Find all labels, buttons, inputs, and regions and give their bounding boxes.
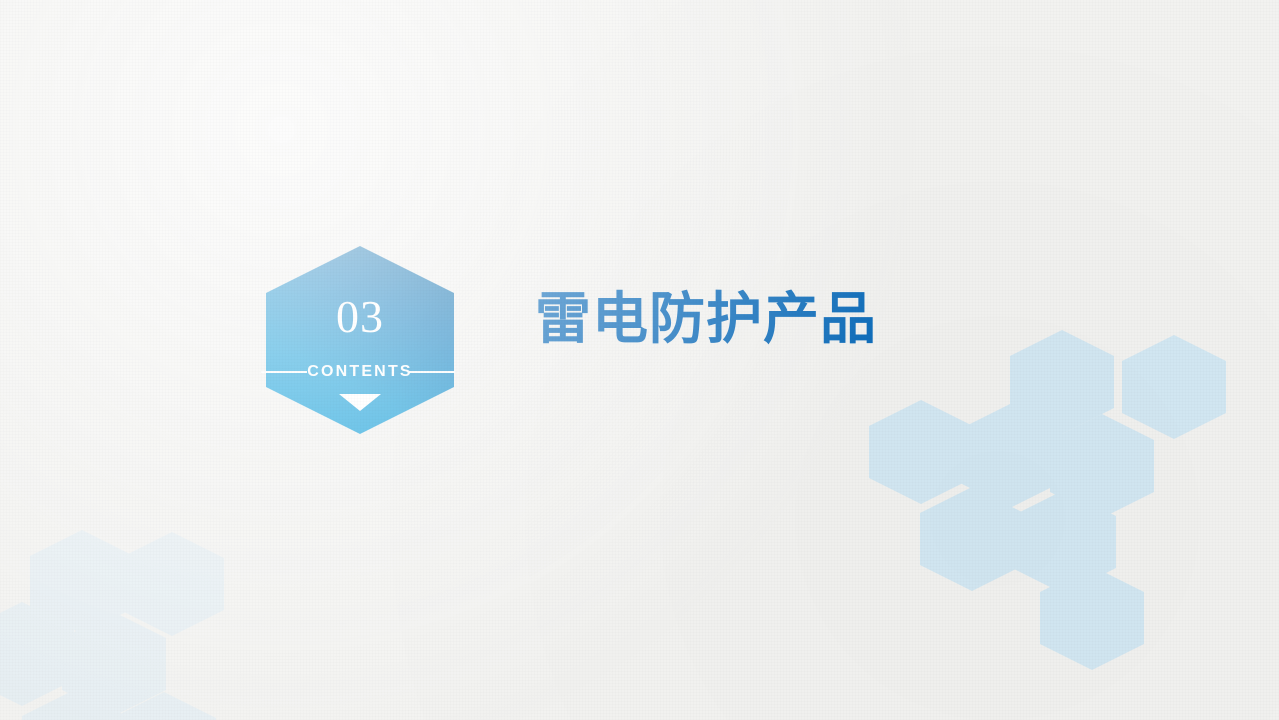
hex-r5 [869,400,973,504]
badge-number: 03 [266,294,454,340]
chevron-down-icon [339,394,381,411]
section-number-badge: 03 CONTENTS [266,246,454,434]
badge-contents-text: CONTENTS [298,364,422,380]
hex-r2 [1122,335,1226,439]
section-title: 雷电防护产品 [535,291,877,350]
decorative-hexagon-cluster-right [0,0,1279,720]
badge-contents-label: CONTENTS [266,364,454,380]
slide-canvas: 03 CONTENTS 雷电防护产品 [0,0,1279,720]
